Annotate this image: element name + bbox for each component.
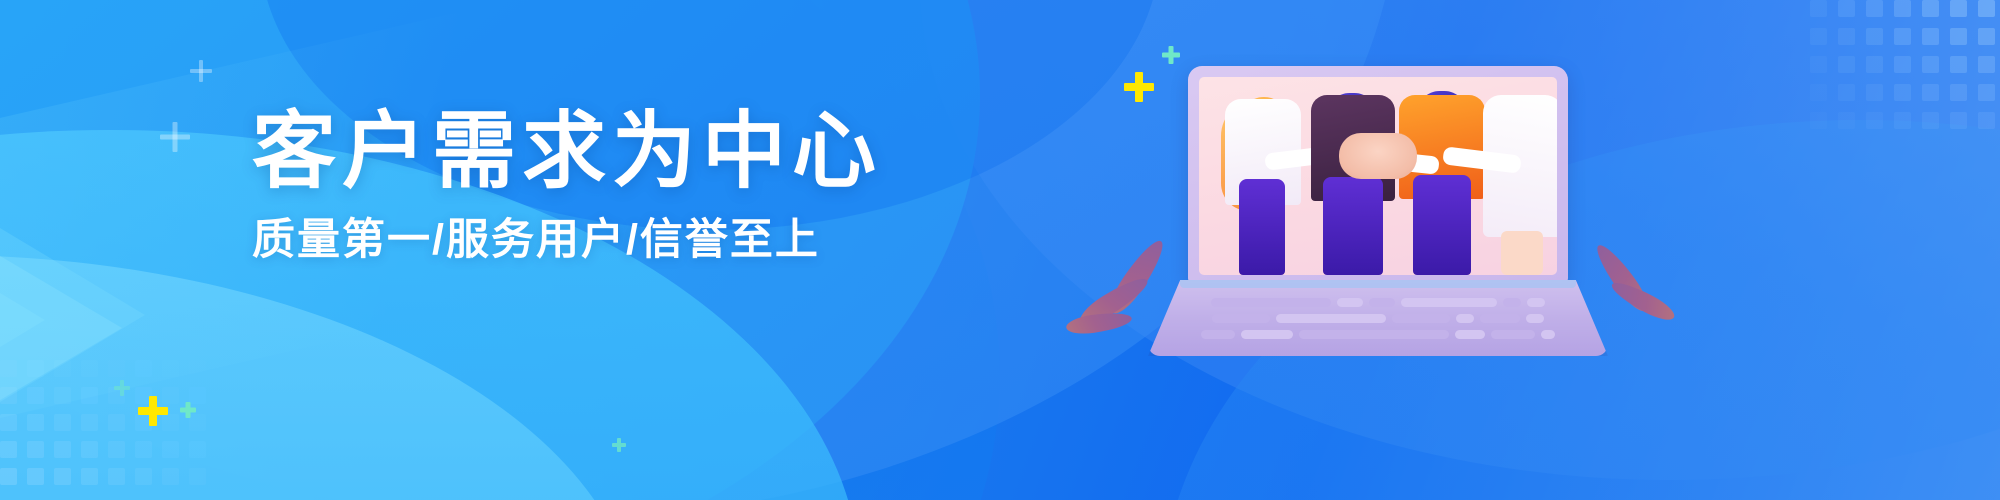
keyboard-key <box>1337 298 1363 307</box>
grid-dot <box>1810 0 1827 17</box>
grid-dot <box>162 360 179 377</box>
leaf-left-3 <box>1065 309 1133 336</box>
grid-dot <box>135 360 152 377</box>
wave-shape-bottom-light <box>0 255 640 500</box>
person-4 <box>1477 77 1557 275</box>
grid-dot <box>1866 84 1883 101</box>
grid-dot <box>1922 28 1939 45</box>
keyboard-key <box>1241 330 1293 339</box>
grid-dot <box>54 468 71 485</box>
laptop-teamwork-illustration <box>1148 66 1608 366</box>
grid-dot <box>135 468 152 485</box>
grid-dot <box>81 387 98 404</box>
grid-dot <box>189 441 206 458</box>
banner-subline: 质量第一/服务用户/信誉至上 <box>252 217 882 264</box>
plus-mint-bottom-center-icon <box>612 438 626 452</box>
dot-grid-bottom-left <box>0 360 215 500</box>
grid-dot <box>1810 28 1827 45</box>
grid-dot <box>27 441 44 458</box>
grid-dot <box>1894 84 1911 101</box>
keyboard-key <box>1392 314 1450 323</box>
grid-dot <box>1810 112 1827 129</box>
grid-dot <box>108 414 125 431</box>
plus-yellow-bottom-left-icon <box>138 396 168 426</box>
grid-dot <box>108 441 125 458</box>
grid-dot <box>0 387 17 404</box>
grid-dot <box>0 441 17 458</box>
plus-white-upper-left-icon <box>190 60 212 82</box>
grid-dot <box>54 360 71 377</box>
grid-dot <box>189 360 206 377</box>
grid-dot <box>1838 84 1855 101</box>
grid-dot <box>1838 0 1855 17</box>
grid-dot <box>1978 112 1995 129</box>
grid-dot <box>1894 0 1911 17</box>
grid-dot <box>1922 84 1939 101</box>
grid-dot <box>27 414 44 431</box>
grid-dot <box>1866 0 1883 17</box>
stacked-hands <box>1339 133 1417 179</box>
grid-dot <box>1866 56 1883 73</box>
grid-dot <box>1922 0 1939 17</box>
grid-dot <box>162 441 179 458</box>
plus-mint-right-icon <box>1162 46 1180 64</box>
keyboard-key <box>1299 330 1449 339</box>
keyboard-key <box>1211 298 1331 307</box>
keyboard-key <box>1527 298 1545 307</box>
chevron-2 <box>0 215 48 425</box>
dot-grid-top-right <box>1810 0 2000 130</box>
grid-dot <box>1922 112 1939 129</box>
plus-mint-bottom-left-icon <box>180 402 196 418</box>
grid-dot <box>81 360 98 377</box>
grid-dot <box>1866 112 1883 129</box>
chevron-3 <box>0 250 125 406</box>
keyboard-row-2 <box>1148 314 1608 323</box>
keyboard-key <box>1456 314 1474 323</box>
person-1-legs <box>1239 179 1285 275</box>
keyboard-key <box>1541 330 1555 339</box>
grid-dot <box>1838 56 1855 73</box>
grid-dot <box>1978 28 1995 45</box>
grid-dot <box>81 414 98 431</box>
grid-dot <box>0 360 17 377</box>
grid-dot <box>1810 84 1827 101</box>
grid-dot <box>1950 84 1967 101</box>
keyboard-key <box>1503 298 1521 307</box>
grid-dot <box>81 468 98 485</box>
plus-mint-bottom-left-small-icon <box>114 380 130 396</box>
grid-dot <box>54 414 71 431</box>
keyboard-key <box>1455 330 1485 339</box>
grid-dot <box>1978 0 1995 17</box>
grid-dot <box>108 360 125 377</box>
keyboard-row-1 <box>1148 298 1608 307</box>
grid-dot <box>1838 28 1855 45</box>
grid-dot <box>1894 112 1911 129</box>
grid-dot <box>81 441 98 458</box>
person-3 <box>1395 77 1489 275</box>
plus-white-mid-left-icon <box>160 122 190 152</box>
person-4-legs <box>1501 231 1543 275</box>
grid-dot <box>1922 56 1939 73</box>
grid-dot <box>0 414 17 431</box>
keyboard-key <box>1276 314 1386 323</box>
keyboard-row-3 <box>1148 330 1608 339</box>
keyboard-key <box>1526 314 1544 323</box>
promo-banner: 客户需求为中心 质量第一/服务用户/信誉至上 <box>0 0 2000 500</box>
grid-dot <box>27 360 44 377</box>
person-1 <box>1215 77 1311 275</box>
grid-dot <box>1978 84 1995 101</box>
leaf-right-2 <box>1608 277 1678 326</box>
grid-dot <box>1894 56 1911 73</box>
keyboard-key <box>1480 314 1520 323</box>
chevron-1 <box>0 195 148 435</box>
grid-dot <box>1950 0 1967 17</box>
grid-dot <box>54 387 71 404</box>
keyboard-key <box>1401 298 1497 307</box>
laptop-screen <box>1199 77 1557 275</box>
laptop-hinge <box>1180 280 1576 288</box>
grid-dot <box>162 468 179 485</box>
grid-dot <box>54 441 71 458</box>
keyboard-key <box>1201 330 1235 339</box>
keyboard-key <box>1491 330 1535 339</box>
grid-dot <box>0 468 17 485</box>
grid-dot <box>1838 112 1855 129</box>
laptop-lid <box>1188 66 1568 284</box>
grid-dot <box>27 468 44 485</box>
grid-dot <box>1978 56 1995 73</box>
grid-dot <box>1950 56 1967 73</box>
grid-dot <box>27 387 44 404</box>
keyboard-key <box>1369 298 1395 307</box>
grid-dot <box>189 468 206 485</box>
grid-dot <box>1950 112 1967 129</box>
grid-dot <box>135 441 152 458</box>
person-2-legs <box>1323 177 1383 275</box>
grid-dot <box>1950 28 1967 45</box>
laptop-base <box>1148 280 1608 356</box>
grid-dot <box>108 468 125 485</box>
grid-dot <box>1866 28 1883 45</box>
person-3-legs <box>1413 175 1471 275</box>
grid-dot <box>1894 28 1911 45</box>
banner-text-block: 客户需求为中心 质量第一/服务用户/信誉至上 <box>252 108 882 265</box>
keyboard-key <box>1212 314 1270 323</box>
grid-dot <box>1810 56 1827 73</box>
banner-headline: 客户需求为中心 <box>252 108 882 195</box>
